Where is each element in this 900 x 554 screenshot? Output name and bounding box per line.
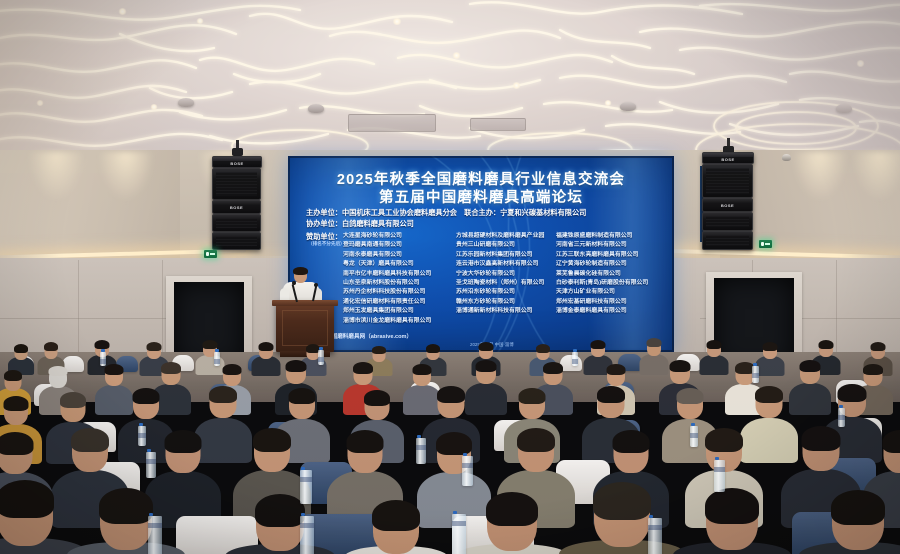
speaker-brand-label: BOSE bbox=[721, 203, 734, 208]
microphone-head bbox=[292, 281, 296, 285]
person-hair bbox=[413, 364, 432, 375]
sponsor-item: 宁波大华砂轮有限公司 bbox=[456, 270, 544, 279]
sponsor-item: 圣戈班陶瓷材料（郑州）有限公司 bbox=[456, 279, 544, 288]
person-hair bbox=[517, 428, 555, 452]
person-hair bbox=[883, 430, 900, 453]
sponsor-column-1: 大连星海砂轮有限公司 登玛磨具南通有限公司 河南永泰磨具有限公司 粤龙（天津）磨… bbox=[343, 232, 431, 326]
speaker-cabinet-3 bbox=[702, 212, 753, 231]
person-hair bbox=[0, 480, 54, 518]
speaker-cabinet-4 bbox=[212, 232, 261, 250]
recessed-downlight bbox=[118, 8, 127, 15]
water-bottle bbox=[214, 352, 220, 366]
person-hair bbox=[161, 362, 181, 374]
ceiling-air-vent bbox=[348, 114, 436, 132]
speaker-yoke bbox=[232, 148, 243, 156]
speaker-cabinet-2: BOSE bbox=[702, 198, 753, 212]
speaker-cabinet-4 bbox=[702, 231, 753, 250]
person-hair bbox=[613, 430, 650, 453]
audience-member bbox=[700, 340, 728, 374]
water-bottle bbox=[572, 352, 578, 366]
person-hair bbox=[14, 344, 28, 353]
recessed-downlight bbox=[150, 104, 158, 110]
speaker-cabinet-1 bbox=[702, 164, 753, 198]
person-hair bbox=[99, 488, 153, 524]
sponsor-item: 江苏三联东亮磨料磨具有限公司 bbox=[556, 251, 648, 260]
speaker-brand-label: BOSE bbox=[230, 205, 243, 210]
water-bottle bbox=[690, 426, 698, 447]
sponsor-item: 江苏乐园新材料集团有限公司 bbox=[456, 251, 544, 260]
sponsor-item: 连云港市汉鑫高新材料有限公司 bbox=[456, 260, 544, 269]
sponsor-item: 莱芜鲁晨碳化硅有限公司 bbox=[556, 270, 648, 279]
person-hair bbox=[593, 482, 651, 520]
recessed-downlight bbox=[196, 18, 204, 24]
water-bottle bbox=[648, 518, 662, 554]
sponsor-item: 淄博金泰磨料磨具有限公司 bbox=[556, 307, 648, 316]
person-hair bbox=[677, 388, 704, 404]
person-hair bbox=[95, 340, 110, 349]
ceiling-speaker bbox=[178, 98, 194, 107]
person-hair bbox=[253, 428, 291, 452]
person-hair bbox=[705, 428, 743, 452]
person-hair bbox=[647, 338, 662, 347]
screen-title-line-2: 第五届中国磨料磨具高端论坛 bbox=[288, 186, 674, 207]
person-hair bbox=[165, 430, 202, 453]
person-hair bbox=[71, 428, 109, 452]
person-hair bbox=[763, 342, 778, 351]
water-bottle bbox=[752, 366, 759, 383]
sponsor-item: 淄博通新新材料科技有限公司 bbox=[456, 307, 544, 316]
sponsor-item: 粤龙（天津）磨具有限公司 bbox=[343, 260, 431, 269]
audience-member bbox=[462, 492, 562, 554]
person-shoulders bbox=[700, 355, 729, 375]
sponsor-sublabel: （排名不分先后） bbox=[308, 241, 345, 247]
sponsor-item: 苏州沿东砂轮有限公司 bbox=[456, 288, 544, 297]
person-hair bbox=[670, 360, 691, 372]
sponsor-item: 河南省三元新材料有限公司 bbox=[556, 241, 648, 250]
person-hair bbox=[4, 370, 22, 381]
water-bottle bbox=[100, 352, 106, 366]
sponsor-item: 苏州丹企材料科技股份有限公司 bbox=[343, 288, 431, 297]
sponsor-item: 山东圣泉新材料股份有限公司 bbox=[343, 279, 431, 288]
audience-member bbox=[350, 500, 442, 554]
person-hair bbox=[802, 426, 841, 451]
audience-member bbox=[680, 488, 784, 554]
ceiling-speaker bbox=[620, 102, 636, 111]
audience-member bbox=[0, 480, 80, 554]
person-hair bbox=[479, 342, 494, 351]
sponsor-item: 赣州东方砂轮有限公司 bbox=[456, 298, 544, 307]
led-presentation-screen: 2025年秋季全国磨料磨具行业信息交流会 第五届中国磨料磨具高端论坛 主办单位：… bbox=[288, 156, 674, 352]
ceiling-speaker bbox=[836, 104, 852, 113]
person-hair bbox=[819, 340, 834, 349]
sponsor-item: 郑州宏基研磨科技有限公司 bbox=[556, 298, 648, 307]
sponsor-item: 大连星海砂轮有限公司 bbox=[343, 232, 431, 241]
water-bottle bbox=[462, 456, 473, 486]
water-bottle bbox=[300, 470, 312, 504]
person-hair bbox=[436, 432, 472, 455]
line-array-speaker-left: BOSE BOSE bbox=[212, 152, 262, 260]
sponsor-item: 贵州三山研磨有限公司 bbox=[456, 241, 544, 250]
person-hair bbox=[800, 360, 821, 372]
water-bottle bbox=[148, 516, 162, 554]
person-hair bbox=[0, 432, 34, 455]
speaker-cabinet-3 bbox=[212, 214, 261, 232]
person-hair bbox=[437, 386, 465, 403]
water-bottle bbox=[714, 460, 725, 492]
person-hair bbox=[286, 360, 307, 372]
person-hair bbox=[426, 344, 440, 353]
ceiling-speaker bbox=[308, 104, 324, 113]
presenter-hair bbox=[293, 267, 308, 275]
water-bottle bbox=[838, 408, 845, 427]
water-bottle bbox=[452, 514, 466, 554]
sponsor-item: 白砂泰利斯(青岛)研磨股份有限公司 bbox=[556, 279, 648, 288]
recessed-downlight bbox=[392, 18, 402, 25]
water-bottle bbox=[300, 516, 314, 554]
recessed-downlight bbox=[856, 60, 865, 67]
person-hair bbox=[476, 360, 497, 372]
audience-member bbox=[806, 490, 900, 554]
person-hair bbox=[372, 500, 420, 531]
coorganizer-line: 协办单位：白鸽磨料磨具有限公司 bbox=[306, 219, 414, 229]
person-hair bbox=[49, 366, 68, 376]
sponsor-item: 河南永泰磨具有限公司 bbox=[343, 251, 431, 260]
person-hair bbox=[536, 344, 550, 353]
sponsor-item: 南平市亿丰磨料磨具科技有限公司 bbox=[343, 270, 431, 279]
security-camera bbox=[782, 154, 791, 161]
speaker-brand-label: BOSE bbox=[721, 157, 734, 162]
person-hair bbox=[347, 430, 384, 453]
sponsor-item: 天津方山矿业有限公司 bbox=[556, 288, 648, 297]
person-hair bbox=[838, 384, 867, 402]
ceiling-air-vent bbox=[470, 118, 526, 131]
sponsor-item: 郑州玉发磨具集团有限公司 bbox=[343, 307, 431, 316]
speaker-cabinet-top: BOSE bbox=[702, 152, 754, 164]
water-bottle bbox=[416, 438, 426, 464]
sponsor-item: 登玛磨具南通有限公司 bbox=[343, 241, 431, 250]
recessed-downlight bbox=[452, 52, 461, 59]
sponsor-item: 通化宏信研磨材料有限责任公司 bbox=[343, 298, 431, 307]
person-hair bbox=[372, 346, 386, 354]
conference-hall-photo: BOSE BOSE BOSE BOSE bbox=[0, 0, 900, 554]
sponsor-item: 方城县超硬材料及磨料磨具产业园 bbox=[456, 232, 544, 241]
recessed-downlight bbox=[604, 100, 612, 106]
microphone-head bbox=[314, 283, 318, 287]
sponsor-item: 福建铢原盛磨料制造有限公司 bbox=[556, 232, 648, 241]
person-hair bbox=[105, 364, 124, 375]
speaker-cabinet-1 bbox=[212, 168, 261, 200]
person-hair bbox=[147, 342, 162, 351]
person-hair bbox=[705, 488, 759, 524]
podium-top bbox=[272, 300, 338, 306]
person-hair bbox=[289, 388, 316, 404]
person-hair bbox=[209, 386, 237, 403]
person-hair bbox=[203, 340, 218, 349]
sponsor-column-2: 方城县超硬材料及磨料磨具产业园 贵州三山研磨有限公司 江苏乐园新材料集团有限公司… bbox=[456, 232, 544, 317]
recessed-downlight bbox=[36, 100, 44, 106]
person-hair bbox=[255, 494, 305, 527]
recessed-downlight bbox=[512, 82, 521, 89]
sponsor-item: 淄博市滨川金龙磨料磨具有限公司 bbox=[343, 317, 431, 326]
person-hair bbox=[486, 492, 538, 526]
person-hair bbox=[44, 342, 58, 351]
water-bottle bbox=[318, 350, 324, 365]
person-hair bbox=[543, 362, 563, 374]
audience-seating bbox=[0, 330, 900, 554]
person-hair bbox=[597, 386, 625, 403]
person-hair bbox=[871, 342, 886, 351]
sponsor-item: 辽宁黄海砂轮制造有限公司 bbox=[556, 260, 648, 269]
person-hair bbox=[223, 364, 242, 375]
person-hair bbox=[133, 388, 160, 404]
person-hair bbox=[863, 364, 883, 375]
person-hair bbox=[519, 388, 546, 404]
ceiling bbox=[0, 0, 900, 172]
audience-member bbox=[74, 488, 178, 554]
person-hair bbox=[831, 490, 885, 525]
water-bottle bbox=[138, 426, 146, 446]
speaker-cabinet-top: BOSE bbox=[212, 156, 262, 168]
person-hair bbox=[707, 340, 722, 349]
speaker-cabinet-2: BOSE bbox=[212, 200, 261, 214]
person-hair bbox=[4, 396, 29, 411]
person-hair bbox=[607, 364, 626, 375]
person-hair bbox=[353, 362, 373, 374]
emergency-exit-sign-right bbox=[759, 240, 772, 248]
person-hair bbox=[364, 390, 390, 406]
emergency-exit-sign-left bbox=[204, 250, 217, 258]
water-bottle bbox=[146, 452, 156, 478]
speaker-brand-label: BOSE bbox=[230, 161, 243, 166]
wave-pattern-led-ceiling bbox=[0, 0, 900, 172]
person-hair bbox=[755, 386, 783, 403]
person-hair bbox=[259, 342, 274, 351]
organizer-line: 主办单位：中国机床工具工业协会磨料磨具分会 联合主办：宁夏和兴碳基材料有限公司 bbox=[306, 208, 586, 218]
person-hair bbox=[591, 340, 606, 349]
sponsor-column-3: 福建铢原盛磨料制造有限公司 河南省三元新材料有限公司 江苏三联东亮磨料磨具有限公… bbox=[556, 232, 648, 317]
line-array-speaker-right: BOSE BOSE bbox=[702, 150, 754, 262]
person-hair bbox=[60, 392, 86, 408]
